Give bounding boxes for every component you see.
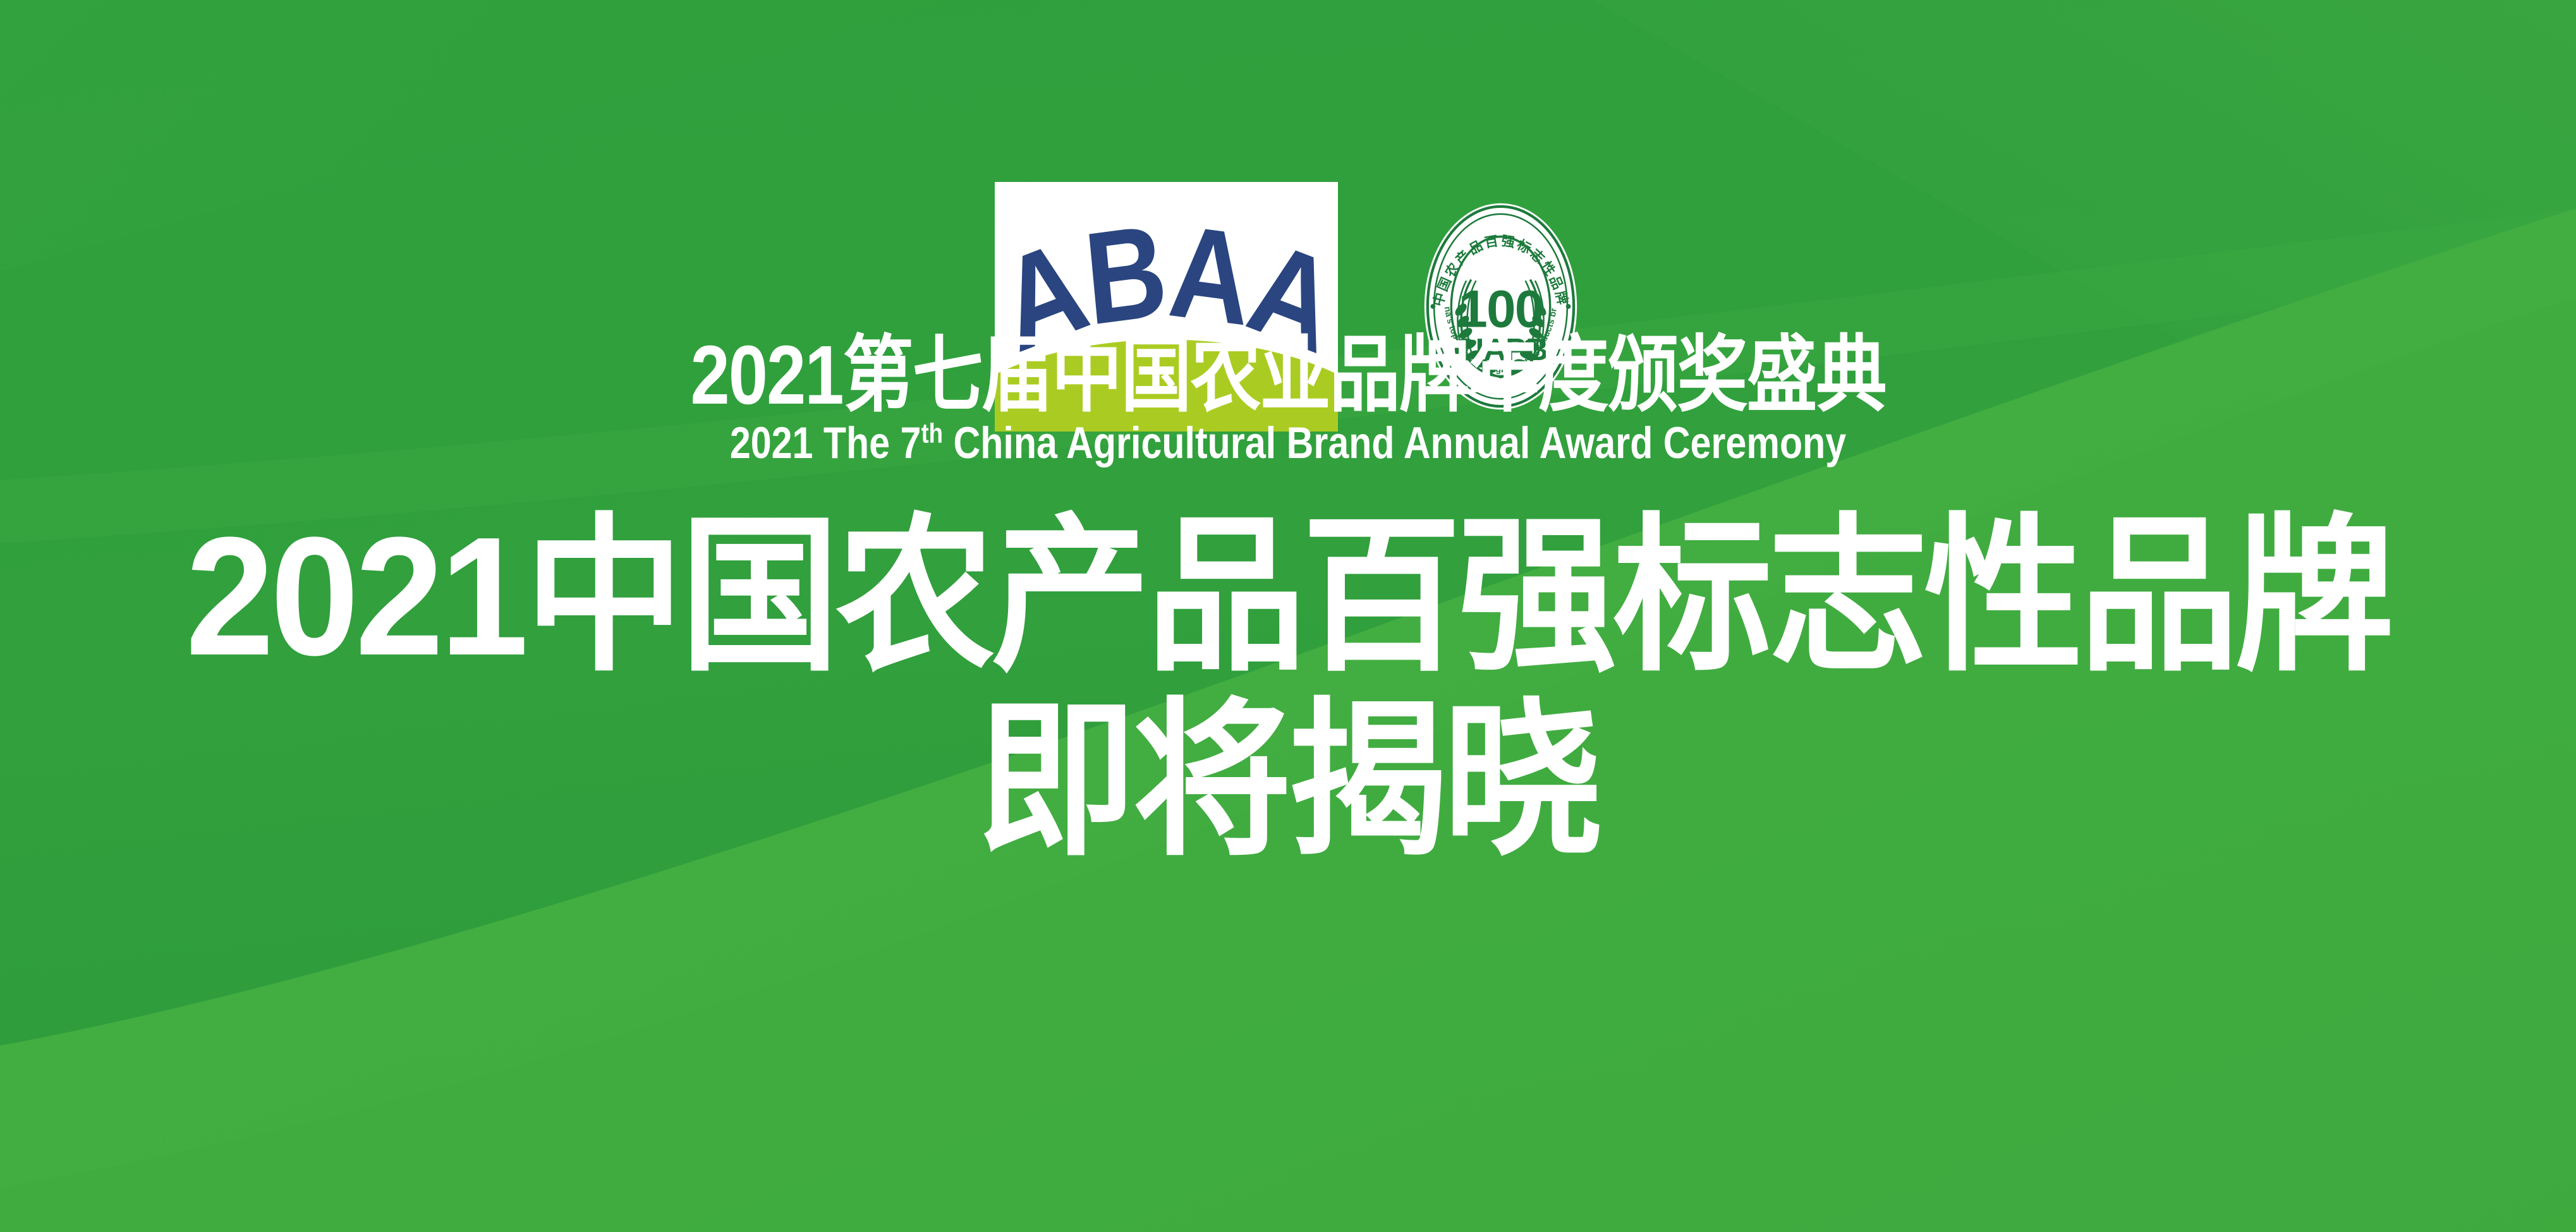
event-title-english: 2021 The 7th China Agricultural Brand An… [39,421,2537,466]
headline-line-2: 即将揭晓 [0,684,2576,879]
event-title-english-suffix: China Agricultural Brand Annual Award Ce… [943,418,1846,468]
poster-canvas: CABAAC 中国农产品百强标志性品牌 [0,0,2576,1232]
event-title-chinese: 2021第七届中国农业品牌年度颁奖盛典 [0,334,2576,417]
event-title-block: 2021第七届中国农业品牌年度颁奖盛典 2021 The 7th China A… [0,334,2576,459]
seal-dot-right [1566,304,1571,309]
headline-block: 2021中国农产品百强标志性品牌 即将揭晓 [0,499,2576,869]
seal-dot-left [1431,304,1436,309]
event-title-english-prefix: 2021 The 7 [730,418,921,468]
headline-line-1: 2021中国农产品百强标志性品牌 [0,499,2576,695]
event-title-ordinal-suffix: th [921,418,943,449]
